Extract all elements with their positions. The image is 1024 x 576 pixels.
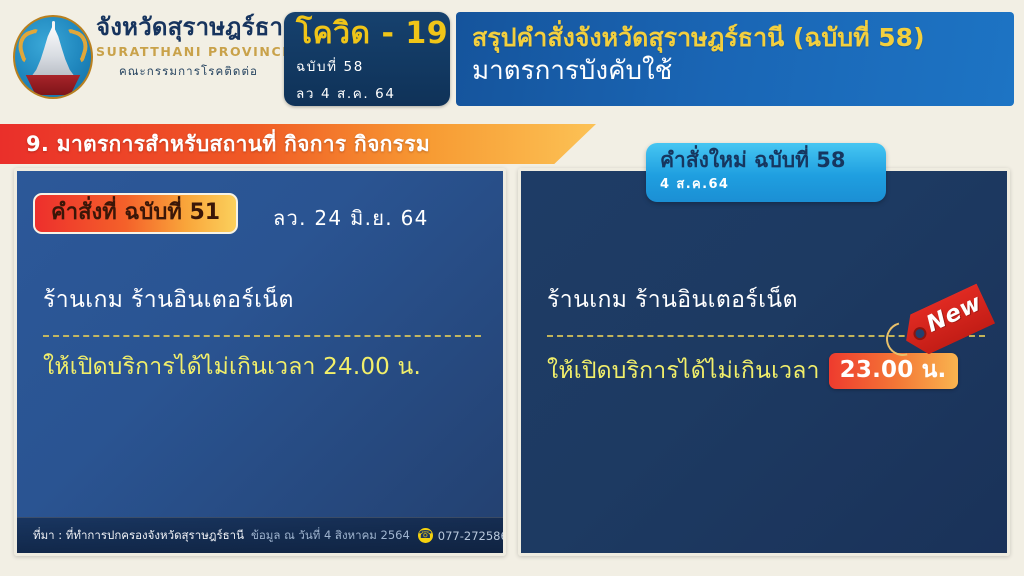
new-order-badge-date: 4 ส.ค.64 xyxy=(660,173,872,194)
title-bar: สรุปคำสั่งจังหวัดสุราษฎร์ธานี (ฉบับที่ 5… xyxy=(456,12,1014,106)
source-phone: 077-272586 xyxy=(438,529,506,543)
panel-new-order: ร้านเกม ร้านอินเตอร์เน็ต ให้เปิดบริการได… xyxy=(518,168,1010,556)
infographic-canvas: จังหวัดสุราษฎร์ธานี SURATTHANI PROVINCE … xyxy=(0,0,1024,576)
panel-previous-order: คำสั่งที่ ฉบับที่ 51 ลว. 24 มิ.ย. 64 ร้า… xyxy=(14,168,506,556)
section-header-bar: 9. มาตรการสำหรับสถานที่ กิจการ กิจกรรม xyxy=(0,124,596,164)
committee-name: คณะกรรมการโรคติดต่อ xyxy=(96,63,281,81)
source-date: ข้อมูล ณ วันที่ 4 สิงหาคม 2564 xyxy=(251,527,410,545)
provincial-seal-icon xyxy=(9,9,97,107)
province-name-english: SURATTHANI PROVINCE xyxy=(96,44,281,59)
province-name-thai: จังหวัดสุราษฎร์ธานี xyxy=(96,14,281,42)
new-item-rule-highlight: 23.00 น. xyxy=(829,353,958,390)
section-title: 9. มาตรการสำหรับสถานที่ กิจการ กิจกรรม xyxy=(26,128,430,161)
previous-item-title: ร้านเกม ร้านอินเตอร์เน็ต xyxy=(43,287,481,315)
page-subtitle: มาตรการบังคับใช้ xyxy=(472,57,1014,87)
source-footer: ที่มา : ที่ทำการปกครองจังหวัดสุราษฎร์ธาน… xyxy=(17,517,503,553)
header: จังหวัดสุราษฎร์ธานี SURATTHANI PROVINCE … xyxy=(0,0,1024,118)
new-order-badge: คำสั่งใหม่ ฉบับที่ 58 4 ส.ค.64 xyxy=(646,143,886,202)
covid-badge: โควิด - 19 ฉบับที่ 58 ลว 4 ส.ค. 64 xyxy=(284,12,450,106)
new-order-badge-title: คำสั่งใหม่ ฉบับที่ 58 xyxy=(660,149,872,172)
seal-circle xyxy=(13,15,93,99)
covid-badge-date: ลว 4 ส.ค. 64 xyxy=(296,82,450,104)
covid-badge-title: โควิด - 19 xyxy=(296,18,450,50)
new-item-rule-prefix: ให้เปิดบริการได้ไม่เกินเวลา xyxy=(547,357,820,386)
phone-icon xyxy=(418,528,433,543)
page-title: สรุปคำสั่งจังหวัดสุราษฎร์ธานี (ฉบับที่ 5… xyxy=(472,24,1014,53)
previous-item-rule: ให้เปิดบริการได้ไม่เกินเวลา 24.00 น. xyxy=(43,353,481,382)
previous-order-badge: คำสั่งที่ ฉบับที่ 51 xyxy=(33,193,238,234)
seal-base xyxy=(22,75,84,95)
divider xyxy=(43,335,481,337)
logo-text-block: จังหวัดสุราษฎร์ธานี SURATTHANI PROVINCE … xyxy=(96,14,281,81)
source-label: ที่มา : ที่ทำการปกครองจังหวัดสุราษฎร์ธาน… xyxy=(33,527,244,545)
previous-order-body: ร้านเกม ร้านอินเตอร์เน็ต ให้เปิดบริการได… xyxy=(43,287,481,381)
covid-badge-issue: ฉบับที่ 58 xyxy=(296,55,450,77)
previous-order-date: ลว. 24 มิ.ย. 64 xyxy=(273,202,429,234)
